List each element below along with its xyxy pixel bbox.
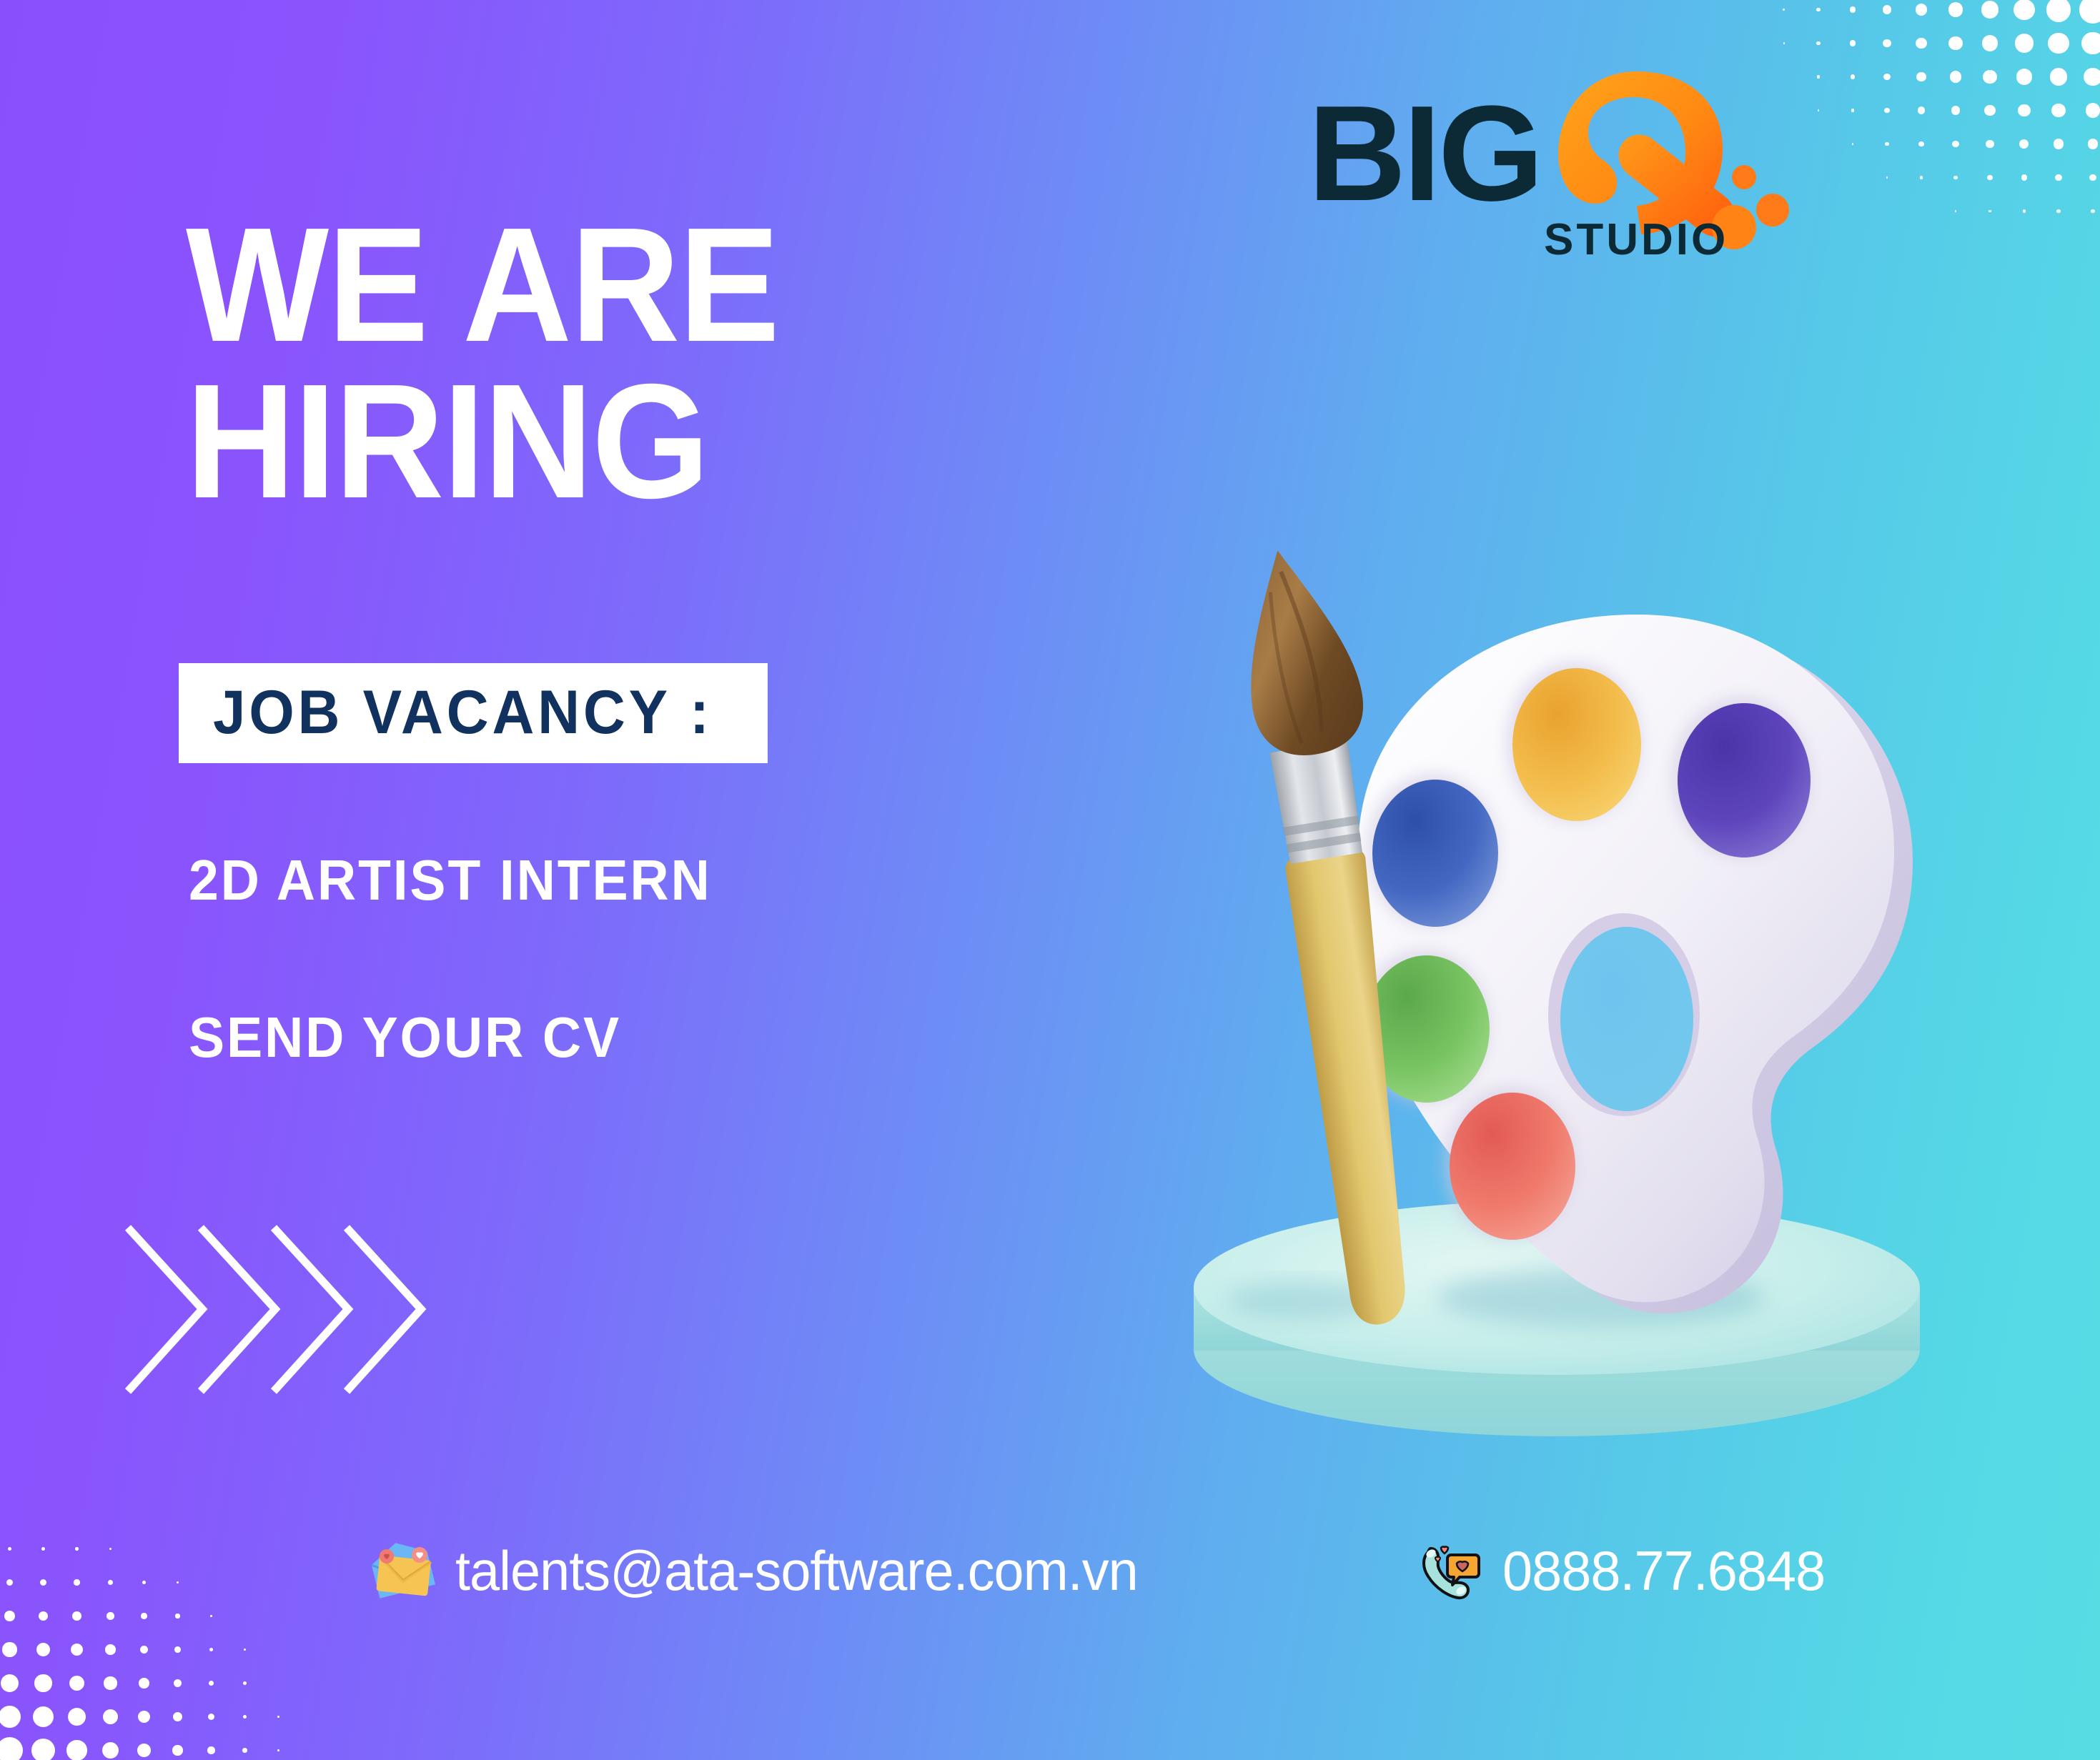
halftone-dot — [66, 1740, 86, 1760]
halftone-dot — [1783, 42, 1786, 44]
halftone-dot — [33, 1706, 54, 1727]
halftone-dot — [2088, 139, 2099, 149]
halftone-dot — [2016, 69, 2032, 84]
halftone-dot — [2046, 0, 2071, 22]
halftone-dot — [2086, 103, 2100, 117]
halftone-dot — [1948, 36, 1962, 50]
halftone-dot — [102, 1742, 119, 1759]
headline-line-1: WE ARE — [186, 207, 984, 364]
halftone-dot — [1987, 175, 1992, 180]
contact-email-value: talents@ata-software.com.vn — [455, 1543, 1138, 1599]
halftone-dot — [1851, 109, 1855, 112]
halftone-dot — [1916, 72, 1926, 81]
contact-row: talents@ata-software.com.vn 0888.77.6848 — [0, 1536, 2100, 1672]
phone-call-heart-icon — [1415, 1536, 1484, 1605]
halftone-dot — [2048, 33, 2069, 54]
halftone-dot — [1983, 70, 1997, 84]
halftone-dot — [1950, 71, 1961, 82]
logo-wordmark-big: BIG — [1308, 86, 1541, 222]
halftone-dot — [2023, 209, 2026, 213]
halftone-dot — [2054, 139, 2064, 149]
chevron-right-icon — [128, 1228, 202, 1391]
halftone-dot — [103, 1709, 118, 1724]
halftone-dot — [174, 1679, 182, 1687]
thumb-hole — [1548, 913, 1700, 1116]
chevron-right-icon — [274, 1228, 348, 1391]
halftone-dot — [1986, 140, 1993, 148]
halftone-dot — [1948, 2, 1963, 17]
halftone-dot — [1783, 9, 1785, 11]
page-title: WE ARE HIRING — [186, 207, 984, 520]
halftone-dot — [243, 1715, 247, 1719]
halftone-dot — [1850, 40, 1856, 46]
halftone-dot — [208, 1714, 214, 1720]
halftone-dot — [137, 1744, 151, 1757]
halftone-dot — [1955, 210, 1957, 212]
halftone-dot — [2019, 139, 2029, 149]
halftone-dot — [1982, 35, 1999, 51]
contact-email[interactable]: talents@ata-software.com.vn — [368, 1536, 1159, 1605]
halftone-dot — [2051, 104, 2065, 117]
halftone-dot — [1918, 141, 1923, 146]
halftone-dot — [2089, 174, 2096, 182]
hiring-poster: BIG STUDIO — [0, 0, 2100, 1760]
halftone-dot — [34, 1674, 51, 1691]
chevron-arrows-decoration — [118, 1215, 675, 1404]
contact-phone-value: 0888.77.6848 — [1502, 1543, 1825, 1599]
job-vacancy-label: JOB VACANCY : — [213, 682, 713, 743]
halftone-dot — [277, 1716, 279, 1718]
halftone-dot — [69, 1676, 85, 1691]
halftone-dot — [2056, 209, 2060, 213]
halftone-dot — [207, 1746, 214, 1754]
halftone-dot — [2014, 0, 2035, 20]
halftone-dot — [2081, 32, 2100, 55]
halftone-dot — [242, 1748, 247, 1753]
logo-tagline-studio: STUDIO — [1544, 218, 1728, 262]
halftone-dot — [138, 1711, 150, 1723]
halftone-dot — [172, 1745, 182, 1755]
headline-line-2: HIRING — [186, 364, 984, 520]
paint-palette-illustration — [1144, 514, 1987, 1458]
halftone-dot — [1883, 39, 1891, 48]
chevron-right-icon — [201, 1228, 275, 1391]
halftone-dot — [1981, 1, 1999, 19]
halftone-dot — [1850, 6, 1856, 13]
halftone-dot — [2079, 0, 2100, 24]
job-vacancy-banner: JOB VACANCY : — [179, 663, 768, 763]
halftone-dot — [2091, 209, 2095, 214]
halftone-dot — [243, 1681, 247, 1685]
halftone-dot — [2021, 174, 2028, 181]
halftone-dot — [1916, 4, 1927, 15]
halftone-dot — [1916, 38, 1926, 49]
halftone-dot — [31, 1739, 55, 1760]
brush-bristles — [1229, 541, 1370, 763]
halftone-dot — [1883, 5, 1892, 14]
halftone-dot — [139, 1678, 149, 1689]
halftone-dot — [1886, 177, 1888, 179]
halftone-dot — [0, 1737, 23, 1760]
send-cv-text: SEND YOUR CV — [189, 1009, 621, 1066]
halftone-dot — [1852, 143, 1854, 145]
halftone-dot — [68, 1708, 86, 1726]
halftone-dot — [1984, 105, 1995, 116]
halftone-dot — [1988, 210, 1991, 213]
halftone-dot — [0, 1706, 21, 1729]
brand-logo: BIG STUDIO — [1308, 64, 1837, 272]
halftone-dot — [1, 1674, 19, 1693]
halftone-dot — [2018, 104, 2031, 117]
halftone-dot — [1884, 108, 1890, 114]
halftone-dot — [1816, 41, 1820, 45]
halftone-dot — [173, 1712, 182, 1721]
halftone-dot — [1920, 176, 1923, 179]
halftone-dot — [1918, 106, 1925, 114]
halftone-dot — [1885, 142, 1888, 146]
job-role-text: 2D ARTIST INTERN — [189, 852, 712, 909]
halftone-dot — [209, 1681, 214, 1686]
halftone-dot — [1951, 106, 1961, 115]
love-letter-icon — [368, 1536, 437, 1605]
halftone-dot — [2055, 174, 2061, 181]
halftone-dot — [277, 1749, 280, 1752]
halftone-dot — [2050, 68, 2068, 86]
halftone-dot — [1851, 74, 1856, 79]
halftone-dot — [104, 1676, 117, 1689]
chevron-right-icon — [347, 1228, 421, 1391]
halftone-dot — [1953, 176, 1958, 180]
contact-phone[interactable]: 0888.77.6848 — [1415, 1536, 1835, 1605]
halftone-dot — [2015, 34, 2034, 53]
halftone-dot — [1952, 141, 1958, 147]
halftone-dot — [2084, 68, 2100, 86]
halftone-dot — [1883, 74, 1891, 81]
halftone-dot — [1816, 8, 1821, 12]
